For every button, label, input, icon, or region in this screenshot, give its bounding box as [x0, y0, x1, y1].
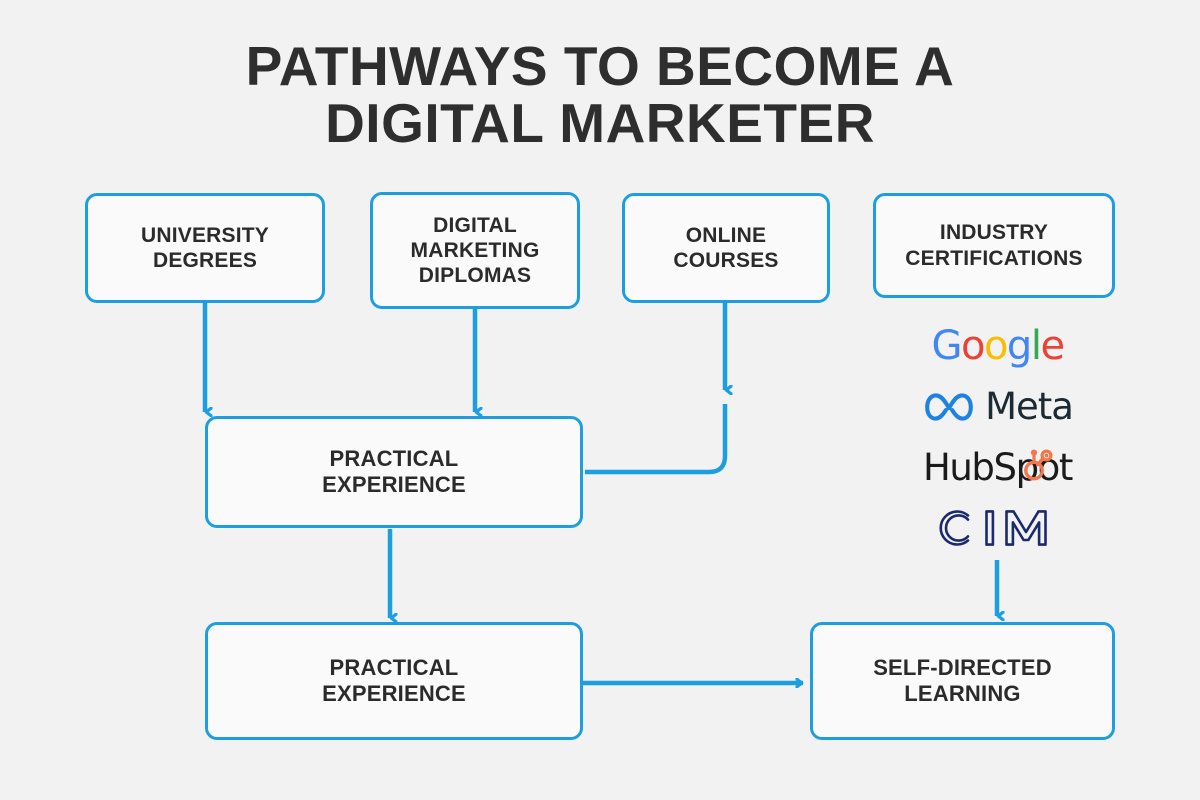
page-title-line-1: PATHWAYS TO BECOME A: [0, 38, 1200, 95]
google-letter-l: l: [1031, 323, 1041, 369]
node-industry-certifications-line-2: CERTIFICATIONS: [905, 247, 1082, 270]
node-digital-marketing-diplomas-line-3: DIPLOMAS: [419, 264, 531, 287]
node-practical-experience-bottom[interactable]: PRACTICAL EXPERIENCE: [205, 622, 583, 740]
node-industry-certifications[interactable]: INDUSTRY CERTIFICATIONS: [873, 193, 1115, 298]
node-digital-marketing-diplomas[interactable]: DIGITAL MARKETING DIPLOMAS: [370, 192, 580, 309]
meta-wordmark-text: Meta: [985, 388, 1073, 425]
google-letter-e: e: [1040, 323, 1063, 369]
node-practical-experience-bottom-line-1: PRACTICAL: [330, 655, 459, 680]
node-practical-experience-mid[interactable]: PRACTICAL EXPERIENCE: [205, 416, 583, 528]
certification-logo-stack: Google Meta HubSpot: [880, 322, 1115, 552]
hubspot-wordmark: HubSpot: [923, 449, 1072, 486]
node-university-degrees-line-1: UNIVERSITY: [141, 224, 269, 247]
meta-infinity-icon: [922, 391, 976, 423]
google-letter-g1: G: [931, 323, 961, 369]
cim-wordmark-icon: [936, 505, 1060, 551]
diagram-canvas: PATHWAYS TO BECOME A DIGITAL MARKETER: [0, 0, 1200, 800]
google-letter-o2: o: [984, 323, 1007, 369]
google-letter-o1: o: [961, 323, 984, 369]
google-wordmark: Google: [931, 326, 1063, 366]
node-self-directed-learning-line-2: LEARNING: [904, 681, 1021, 706]
logo-meta: Meta: [880, 383, 1115, 431]
connector-online-courses-segment-2: [585, 404, 725, 472]
node-practical-experience-mid-line-2: EXPERIENCE: [322, 472, 466, 497]
node-practical-experience-bottom-line-2: EXPERIENCE: [322, 681, 466, 706]
hubspot-sprocket-icon: [1014, 446, 1056, 488]
node-digital-marketing-diplomas-line-1: DIGITAL: [433, 214, 517, 237]
node-practical-experience-mid-line-1: PRACTICAL: [330, 446, 459, 471]
google-letter-g2: g: [1007, 323, 1031, 369]
logo-cim: CIM: [880, 504, 1115, 552]
logo-google: Google: [880, 322, 1115, 370]
node-industry-certifications-line-1: INDUSTRY: [940, 221, 1048, 244]
node-digital-marketing-diplomas-line-2: MARKETING: [411, 239, 540, 262]
node-online-courses[interactable]: ONLINE COURSES: [622, 193, 830, 303]
node-online-courses-line-1: ONLINE: [686, 224, 767, 247]
page-title: PATHWAYS TO BECOME A DIGITAL MARKETER: [0, 38, 1200, 152]
cim-wordmark: CIM: [936, 505, 1060, 551]
page-title-line-2: DIGITAL MARKETER: [0, 95, 1200, 152]
node-self-directed-learning[interactable]: SELF-DIRECTED LEARNING: [810, 622, 1115, 740]
node-university-degrees[interactable]: UNIVERSITY DEGREES: [85, 193, 325, 303]
node-online-courses-line-2: COURSES: [673, 249, 778, 272]
node-university-degrees-line-2: DEGREES: [153, 249, 257, 272]
logo-hubspot: HubSpot: [880, 443, 1115, 491]
node-self-directed-learning-line-1: SELF-DIRECTED: [873, 655, 1052, 680]
meta-wordmark: Meta: [922, 388, 1073, 425]
